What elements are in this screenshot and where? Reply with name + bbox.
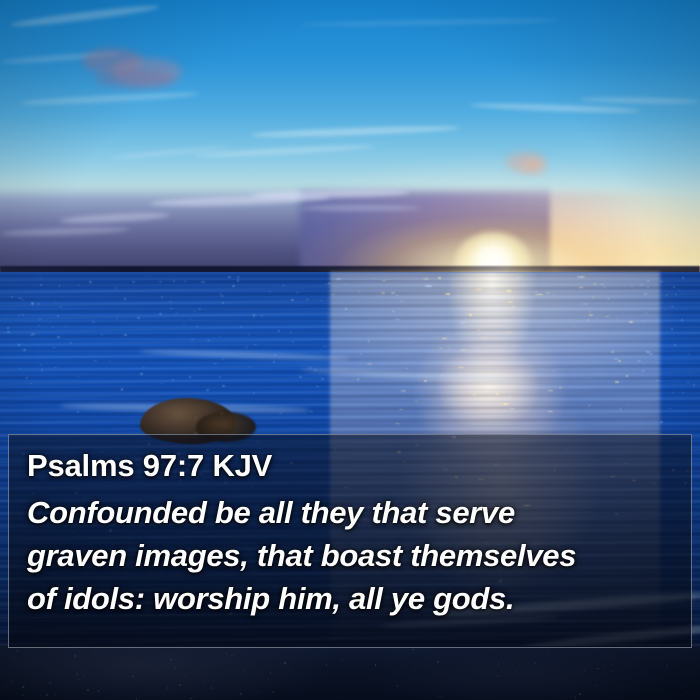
water-sparkle bbox=[439, 348, 443, 349]
water-sparkle bbox=[679, 289, 680, 291]
water-sparkle bbox=[516, 280, 519, 281]
water-sparkle bbox=[611, 351, 614, 353]
water-sparkle bbox=[669, 408, 672, 409]
water-sparkle bbox=[26, 377, 29, 379]
water-sparkle bbox=[198, 308, 200, 310]
water-sparkle bbox=[626, 375, 628, 377]
water-sparkle bbox=[581, 276, 586, 277]
water-sparkle bbox=[442, 374, 443, 375]
water-sparkle bbox=[423, 278, 429, 280]
water-sparkle bbox=[310, 411, 313, 412]
water-sparkle bbox=[40, 284, 42, 286]
water-sparkle bbox=[194, 310, 195, 312]
water-sparkle bbox=[641, 370, 645, 372]
water-sparkle bbox=[92, 321, 94, 323]
water-sparkle bbox=[203, 281, 205, 283]
water-sparkle bbox=[534, 291, 538, 292]
verse-image: Psalms 97:7 KJV Confounded be all they t… bbox=[0, 0, 700, 700]
water-sparkle bbox=[53, 347, 55, 348]
water-sparkle bbox=[503, 403, 509, 405]
foreground-speck bbox=[628, 687, 629, 689]
foreground-speck bbox=[584, 670, 585, 671]
water-sparkle bbox=[360, 353, 363, 355]
verse-line: of idols: worship him, all ye gods. bbox=[27, 577, 675, 620]
water-sparkle bbox=[327, 317, 329, 318]
foreground-speck bbox=[204, 681, 205, 683]
water-sparkle bbox=[608, 298, 609, 300]
water-sparkle bbox=[159, 313, 162, 315]
water-sparkle bbox=[509, 408, 515, 409]
water-sparkle bbox=[327, 283, 330, 284]
water-sparkle bbox=[291, 299, 294, 300]
foreground-speck bbox=[167, 687, 168, 689]
water-sparkle bbox=[124, 298, 126, 299]
water-sparkle bbox=[391, 292, 395, 293]
foreground-speck bbox=[573, 670, 574, 671]
water-sparkle bbox=[647, 280, 648, 282]
water-sparkle bbox=[57, 336, 59, 338]
foreground-speck bbox=[57, 658, 59, 659]
foreground-speck bbox=[136, 698, 137, 700]
foreground-speck bbox=[74, 655, 76, 656]
water-sparkle bbox=[309, 367, 312, 369]
water-sparkle bbox=[374, 278, 375, 280]
water-sparkle bbox=[253, 314, 255, 316]
verse-line: Confounded be all they that serve bbox=[27, 491, 675, 534]
water-sparkle bbox=[142, 367, 145, 368]
water-sparkle bbox=[459, 363, 465, 364]
water-sparkle bbox=[508, 396, 511, 397]
water-sparkle bbox=[548, 411, 552, 412]
foreground-speck bbox=[588, 686, 589, 687]
water-sparkle bbox=[593, 283, 597, 285]
water-sparkle bbox=[487, 298, 492, 300]
water-sparkle bbox=[194, 357, 195, 359]
dark-foreground-shore bbox=[0, 646, 700, 700]
water-sparkle bbox=[618, 360, 620, 362]
foreground-speck bbox=[54, 694, 56, 695]
water-sparkle bbox=[161, 296, 163, 298]
foreground-speck bbox=[78, 679, 80, 680]
water-sparkle bbox=[336, 278, 340, 280]
water-sparkle bbox=[59, 285, 60, 287]
foreground-speck bbox=[4, 686, 5, 688]
foreground-speck bbox=[273, 691, 274, 692]
water-sparkle bbox=[381, 292, 385, 294]
water-sparkle bbox=[249, 367, 250, 368]
water-sparkle bbox=[458, 322, 464, 323]
foreground-speck bbox=[3, 674, 4, 676]
foreground-speck bbox=[12, 664, 13, 665]
water-sparkle bbox=[37, 303, 40, 304]
foreground-speck bbox=[95, 653, 96, 654]
water-sparkle bbox=[587, 319, 589, 321]
water-sparkle bbox=[357, 300, 359, 302]
water-sparkle bbox=[323, 346, 327, 347]
water-sparkle bbox=[496, 393, 498, 395]
foreground-speck bbox=[442, 667, 443, 668]
water-sparkle bbox=[551, 370, 556, 371]
foreground-speck bbox=[276, 687, 277, 688]
foreground-speck bbox=[22, 686, 24, 687]
verse-line: graven images, that boast themselves bbox=[27, 534, 675, 577]
water-sparkle bbox=[240, 326, 242, 328]
cloud-puff bbox=[95, 70, 175, 88]
foreground-speck bbox=[284, 662, 286, 663]
water-sparkle bbox=[39, 319, 40, 320]
water-sparkle bbox=[189, 376, 192, 378]
water-sparkle bbox=[140, 373, 143, 374]
water-sparkle bbox=[191, 339, 194, 340]
water-sparkle bbox=[221, 295, 224, 297]
water-sparkle bbox=[641, 284, 642, 286]
water-sparkle bbox=[656, 385, 657, 387]
water-sparkle bbox=[121, 388, 123, 390]
foreground-speck bbox=[87, 689, 89, 691]
foreground-speck bbox=[49, 682, 51, 684]
water-sparkle bbox=[399, 409, 403, 410]
water-sparkle bbox=[359, 292, 360, 293]
water-sparkle bbox=[660, 421, 663, 423]
verse-caption-panel: Psalms 97:7 KJV Confounded be all they t… bbox=[8, 434, 692, 648]
verse-reference: Psalms 97:7 KJV bbox=[27, 447, 675, 485]
water-sparkle bbox=[469, 314, 472, 316]
water-sparkle bbox=[424, 380, 428, 381]
water-sparkle bbox=[40, 364, 41, 366]
water-sparkle bbox=[31, 302, 33, 304]
water-sparkle bbox=[41, 369, 44, 371]
water-sparkle bbox=[536, 294, 543, 295]
water-sparkle bbox=[631, 286, 633, 287]
water-sparkle bbox=[173, 280, 175, 282]
water-sparkle bbox=[446, 293, 450, 294]
foreground-speck bbox=[397, 685, 398, 687]
water-sparkle bbox=[513, 345, 515, 347]
water-sparkle bbox=[673, 286, 675, 288]
water-sparkle bbox=[273, 361, 275, 363]
water-sparkle bbox=[89, 281, 91, 283]
water-sparkle bbox=[647, 287, 649, 288]
water-sparkle bbox=[477, 329, 481, 331]
water-sparkle bbox=[116, 318, 117, 319]
water-sparkle bbox=[3, 454, 5, 455]
water-sparkle bbox=[656, 380, 658, 381]
water-sparkle bbox=[278, 330, 279, 331]
foreground-speck bbox=[270, 672, 271, 673]
water-sparkle bbox=[60, 306, 62, 307]
foreground-speck bbox=[666, 665, 667, 667]
water-sparkle bbox=[519, 285, 526, 286]
water-sparkle bbox=[78, 376, 79, 378]
water-sparkle bbox=[195, 417, 196, 418]
foreground-speck bbox=[53, 657, 54, 658]
water-sparkle bbox=[589, 314, 593, 316]
foreground-speck bbox=[437, 661, 439, 663]
foreground-speck bbox=[456, 682, 458, 683]
water-sparkle bbox=[274, 354, 275, 356]
water-sparkle bbox=[101, 334, 103, 335]
water-sparkle bbox=[23, 349, 26, 351]
water-sparkle bbox=[506, 290, 512, 292]
water-sparkle bbox=[675, 294, 677, 295]
water-sparkle bbox=[124, 334, 127, 336]
water-sparkle bbox=[649, 353, 653, 355]
water-sparkle bbox=[589, 311, 590, 312]
water-sparkle bbox=[279, 413, 282, 414]
foreground-speck bbox=[46, 694, 47, 696]
water-sparkle bbox=[550, 390, 553, 392]
water-sparkle bbox=[401, 390, 406, 391]
foreground-speck bbox=[534, 662, 536, 664]
water-sparkle bbox=[331, 294, 335, 295]
water-sparkle bbox=[172, 379, 173, 381]
water-sparkle bbox=[475, 289, 481, 290]
foreground-speck bbox=[16, 650, 18, 652]
foreground-speck bbox=[612, 670, 613, 672]
water-sparkle bbox=[314, 369, 317, 371]
water-sparkle bbox=[206, 389, 209, 391]
water-sparkle bbox=[582, 303, 587, 305]
water-sparkle bbox=[438, 277, 441, 279]
water-sparkle bbox=[592, 297, 595, 298]
water-sparkle bbox=[646, 351, 649, 353]
water-sparkle bbox=[687, 354, 690, 355]
water-sparkle bbox=[629, 321, 633, 322]
water-sparkle bbox=[693, 384, 695, 386]
water-sparkle bbox=[253, 392, 255, 394]
water-sparkle bbox=[219, 336, 221, 337]
foreground-speck bbox=[170, 659, 172, 660]
water-sparkle bbox=[615, 381, 619, 382]
water-sparkle bbox=[214, 363, 217, 364]
water-sparkle bbox=[170, 308, 173, 309]
water-sparkle bbox=[457, 295, 459, 297]
water-sparkle bbox=[487, 286, 488, 288]
water-sparkle bbox=[237, 276, 240, 278]
foreground-speck bbox=[441, 696, 442, 697]
foreground-speck bbox=[574, 695, 575, 696]
foreground-speck bbox=[438, 696, 439, 697]
water-sparkle bbox=[357, 379, 359, 380]
water-sparkle bbox=[237, 279, 239, 281]
cloud-puff bbox=[520, 158, 546, 174]
verse-text: Confounded be all they that serve graven… bbox=[27, 491, 675, 620]
water-sparkle bbox=[644, 293, 647, 294]
water-sparkle bbox=[232, 285, 234, 287]
water-sparkle bbox=[299, 376, 302, 377]
